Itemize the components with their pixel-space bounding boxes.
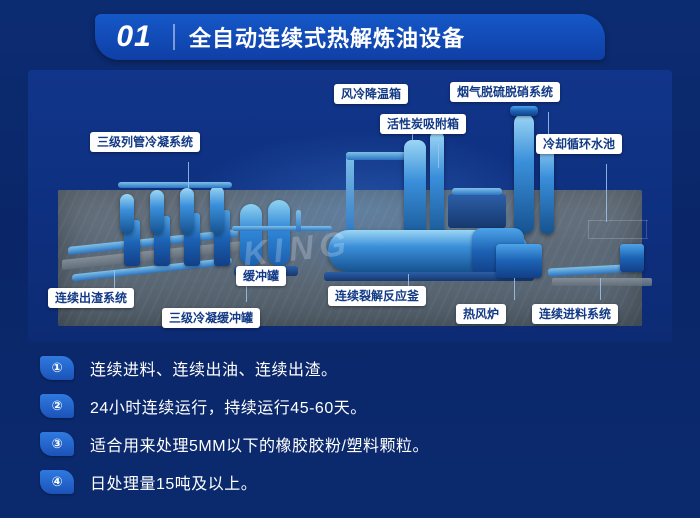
leader-line [606,164,607,222]
callout-three-stage-cond-buffer: 三级冷凝缓冲罐 [162,308,260,328]
process-pipe [232,226,332,231]
list-item-text: 24小时连续运行，持续运行45-60天。 [90,394,367,418]
condenser-tube [210,186,224,234]
vertical-duct [346,152,354,240]
leader-line [600,278,601,300]
air-cooling-column [404,140,426,244]
fence-line [646,220,647,238]
leader-line [438,144,439,168]
condenser-tube [120,194,134,234]
callout-air-cooling-box: 风冷降温箱 [334,84,408,104]
activated-carbon-column [430,132,444,244]
list-item-number: ③ [40,432,74,456]
desulfurization-tower [514,114,534,234]
process-pipe-riser [296,210,301,232]
fence-line [588,220,589,238]
section-number: 01 [95,20,173,54]
feature-list: ① 连续进料、连续出油、连续出渣。 ② 24小时连续运行，持续运行45-60天。… [40,356,670,508]
leader-line [514,278,515,300]
callout-continuous-feed-system: 连续进料系统 [532,304,618,324]
fence-line [588,220,648,221]
callout-reactor: 连续裂解反应釜 [328,286,426,306]
condenser-header-pipe [118,182,232,188]
page-title: 全自动连续式热解炼油设备 [189,21,465,53]
list-item-number: ① [40,356,74,380]
buffer-tank-unit [268,200,290,266]
hot-air-furnace-unit [496,244,542,278]
list-item-number: ④ [40,470,74,494]
equipment-diagram: KING 风冷降温箱 烟气脱硫脱硝系统 活性炭吸附箱 三级列管冷凝系统 冷却循环… [28,70,672,342]
list-item-text: 日处理量15吨及以上。 [90,470,257,494]
callout-cooling-water-pool: 冷却循环水池 [536,134,622,154]
feed-platform [552,278,652,286]
list-item: ③ 适合用来处理5MM以下的橡胶胶粉/塑料颗粒。 [40,432,670,456]
fence-line [588,238,648,239]
heat-exchanger-block [448,194,506,228]
condenser-tube [180,188,194,234]
condenser-tube [150,190,164,234]
section-header: 01 全自动连续式热解炼油设备 [95,14,605,60]
callout-buffer-tank: 缓冲罐 [236,266,286,286]
leader-line [246,284,247,302]
exchanger-top-pipe [452,188,502,195]
list-item: ② 24小时连续运行，持续运行45-60天。 [40,394,670,418]
list-item-text: 连续进料、连续出油、连续出渣。 [90,356,338,380]
callout-hot-air-furnace: 热风炉 [456,304,506,324]
list-item-text: 适合用来处理5MM以下的橡胶胶粉/塑料颗粒。 [90,432,429,456]
callout-three-stage-tube-cond: 三级列管冷凝系统 [90,132,200,152]
buffer-tank-unit [240,204,262,266]
callout-continuous-slag-system: 连续出渣系统 [48,288,134,308]
list-item: ④ 日处理量15吨及以上。 [40,470,670,494]
tower-cap [510,106,538,116]
callout-flue-gas-desulfur: 烟气脱硫脱硝系统 [450,82,560,102]
scrubber-column [540,140,554,234]
horizontal-duct [346,152,410,160]
leader-line [188,162,189,188]
list-item: ① 连续进料、连续出油、连续出渣。 [40,356,670,380]
header-divider [173,24,175,50]
slide-page: 01 全自动连续式热解炼油设备 [0,0,700,518]
callout-activated-carbon-box: 活性炭吸附箱 [380,114,466,134]
feed-hopper [620,244,644,272]
list-item-number: ② [40,394,74,418]
